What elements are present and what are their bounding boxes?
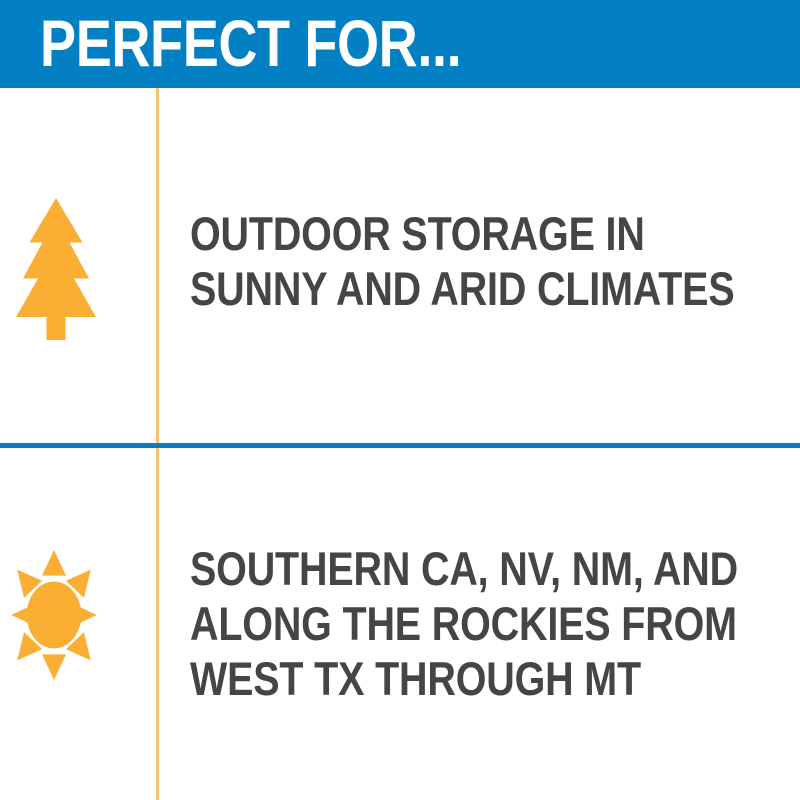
icon-cell-tree	[0, 88, 156, 443]
feature-line: OUTDOOR STORAGE IN	[190, 206, 694, 261]
evergreen-tree-icon	[16, 198, 96, 340]
text-cell-regions: SOUTHERN CA, NV, NM, AND ALONG THE ROCKI…	[190, 541, 790, 706]
sun-icon	[11, 550, 97, 680]
feature-line: WEST TX THROUGH MT	[190, 651, 694, 706]
infographic-panel: PERFECT FOR... OUTDOOR STORAGE IN SUNNY …	[0, 0, 800, 800]
feature-line: ALONG THE ROCKIES FROM	[190, 596, 694, 651]
feature-line: SOUTHERN CA, NV, NM, AND	[190, 541, 694, 596]
header-band: PERFECT FOR...	[0, 0, 800, 88]
text-cell-outdoor-storage: OUTDOOR STORAGE IN SUNNY AND ARID CLIMAT…	[190, 206, 790, 316]
feature-line: SUNNY AND ARID CLIMATES	[190, 261, 694, 316]
icon-cell-sun	[0, 448, 156, 800]
feature-row-regions: SOUTHERN CA, NV, NM, AND ALONG THE ROCKI…	[0, 448, 800, 800]
feature-row-outdoor-storage: OUTDOOR STORAGE IN SUNNY AND ARID CLIMAT…	[0, 88, 800, 443]
page-title: PERFECT FOR...	[40, 6, 461, 80]
